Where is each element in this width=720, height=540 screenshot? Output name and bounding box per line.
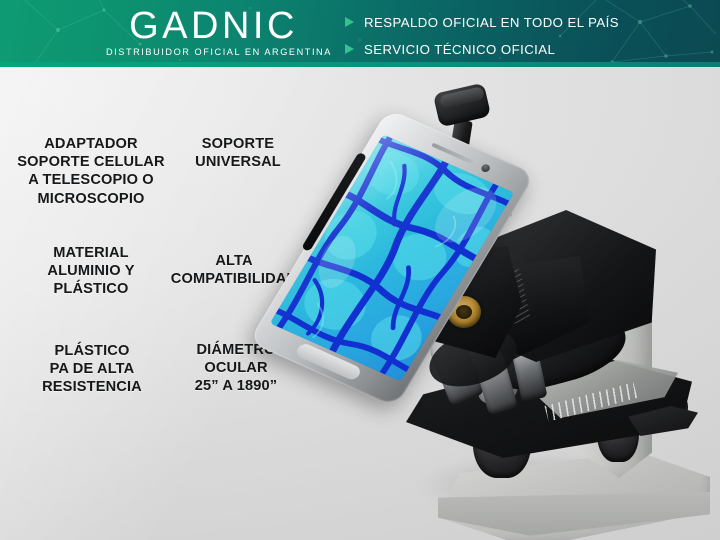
brand-name: GADNIC — [106, 7, 321, 46]
header-claims-list: RESPALDO OFICIAL EN TODO EL PAÍS SERVICI… — [345, 10, 619, 61]
header-claim-label: RESPALDO OFICIAL EN TODO EL PAÍS — [364, 15, 619, 30]
brand-logo: GADNIC DISTRIBUIDOR OFICIAL EN ARGENTINA — [106, 7, 321, 58]
feature-material: MATERIALALUMINIO YPLÁSTICO — [16, 244, 166, 299]
arrow-right-icon — [345, 17, 354, 27]
brand-header: GADNIC DISTRIBUIDOR OFICIAL EN ARGENTINA… — [0, 0, 720, 67]
header-claim-item: RESPALDO OFICIAL EN TODO EL PAÍS — [345, 10, 619, 34]
brand-tagline: DISTRIBUIDOR OFICIAL EN ARGENTINA — [106, 47, 321, 58]
feature-soporte: SOPORTEUNIVERSAL — [172, 135, 304, 171]
product-photo — [310, 60, 720, 540]
header-claim-label: SERVICIO TÉCNICO OFICIAL — [364, 42, 555, 57]
arrow-right-icon — [345, 44, 354, 54]
adapter-thumbscrew-socket — [456, 305, 472, 319]
header-claim-item: SERVICIO TÉCNICO OFICIAL — [345, 37, 619, 61]
feature-adaptador: ADAPTADORSOPORTE CELULARA TELESCOPIO OMI… — [8, 135, 174, 208]
feature-plastico: PLÁSTICOPA DE ALTARESISTENCIA — [12, 342, 172, 397]
product-advertisement: GADNIC DISTRIBUIDOR OFICIAL EN ARGENTINA… — [0, 0, 720, 540]
